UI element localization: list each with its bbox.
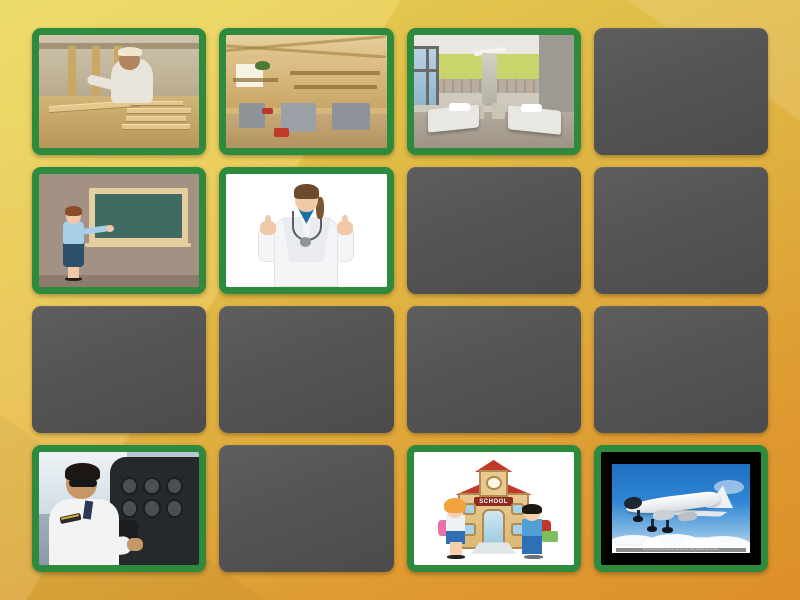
carpenter-at-workbench-image [39,35,199,148]
school-building-with-children-image: SCHOOL [414,452,574,565]
doctor-thumbs-up-image [226,174,386,287]
teacher-at-chalkboard-image [39,174,199,287]
card-5-teacher[interactable] [32,167,206,294]
card-4-facedown[interactable] [594,28,768,155]
card-15-school[interactable]: SCHOOL [407,445,581,572]
pilot-in-cockpit-image [39,452,199,565]
memory-game-board: SCHOOL [32,28,768,572]
card-11-facedown[interactable] [407,306,581,433]
card-3-hospital-room[interactable] [407,28,581,155]
card-8-facedown[interactable] [594,167,768,294]
card-9-facedown[interactable] [32,306,206,433]
card-1-carpenter[interactable] [32,28,206,155]
school-sign: SCHOOL [474,497,512,506]
card-13-pilot[interactable] [32,445,206,572]
video-caption-title: GRIJVENTAJAS [616,544,746,548]
video-frame: GRIJVENTAJAS El avion es el medio de tra… [612,464,750,552]
card-10-facedown[interactable] [219,306,393,433]
card-6-doctor[interactable] [219,167,393,294]
card-14-facedown[interactable] [219,445,393,572]
card-2-woodshop[interactable] [219,28,393,155]
card-7-facedown[interactable] [407,167,581,294]
card-16-airplane[interactable]: GRIJVENTAJAS El avion es el medio de tra… [594,445,768,572]
video-caption-subtitle: El avion es el medio de transporte mas r… [616,548,746,551]
school-sign-label: SCHOOL [479,499,508,505]
hospital-patient-room-image [414,35,574,148]
woodworking-workshop-image [226,35,386,148]
airplane-taking-off-image: GRIJVENTAJAS El avion es el medio de tra… [601,452,761,565]
video-caption: GRIJVENTAJAS El avion es el medio de tra… [616,544,746,552]
card-12-facedown[interactable] [594,306,768,433]
